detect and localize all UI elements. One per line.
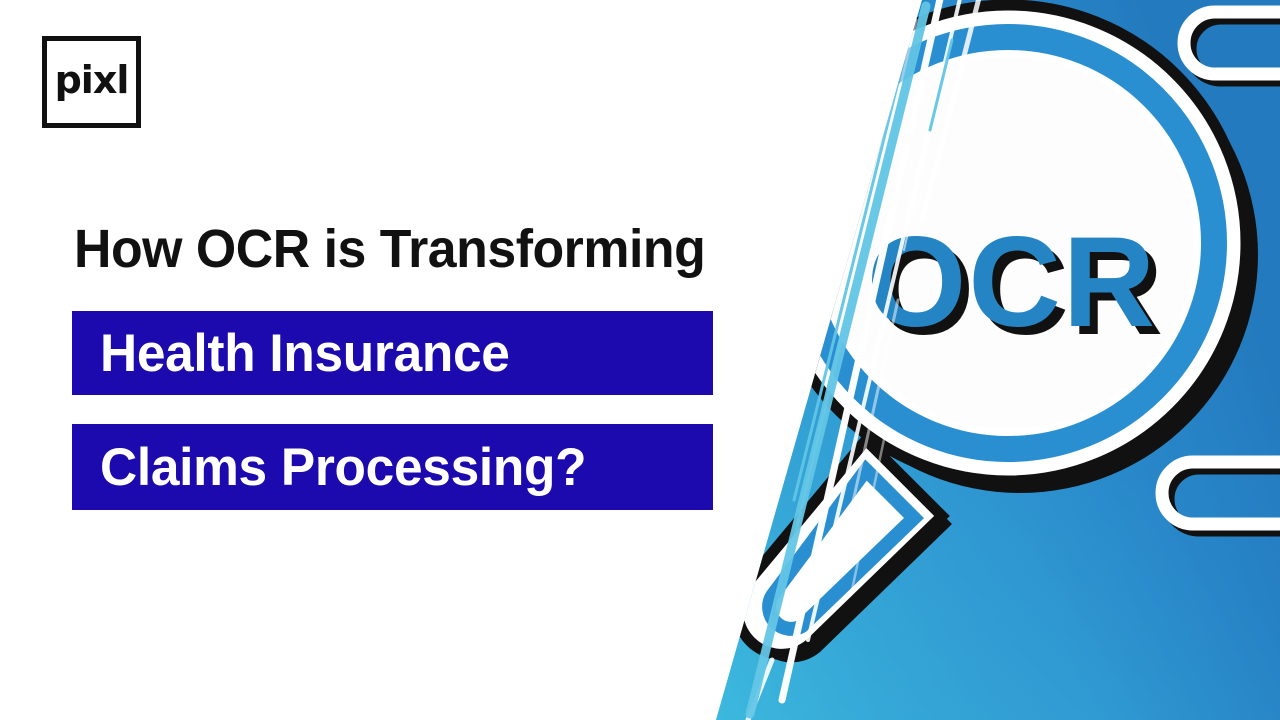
magnifier-ocr-label: OCR OCR [867, 211, 1165, 362]
headline-highlight-bar-2: Claims Processing? [72, 424, 713, 510]
poster-canvas: pixl How OCR is Transforming Health Insu… [0, 0, 1280, 720]
brand-logo[interactable]: pixl [42, 36, 141, 128]
headline-highlight-text-1: Health Insurance [100, 327, 510, 380]
headline-highlight-text-2: Claims Processing? [100, 441, 586, 494]
magnifier-ocr-text: OCR [867, 211, 1157, 354]
headline-highlight-bar-1: Health Insurance [72, 311, 713, 395]
ocr-illustration: OCR OCR [690, 0, 1280, 720]
brand-logo-text: pixl [55, 61, 129, 99]
headline-line-1: How OCR is Transforming [74, 218, 705, 280]
